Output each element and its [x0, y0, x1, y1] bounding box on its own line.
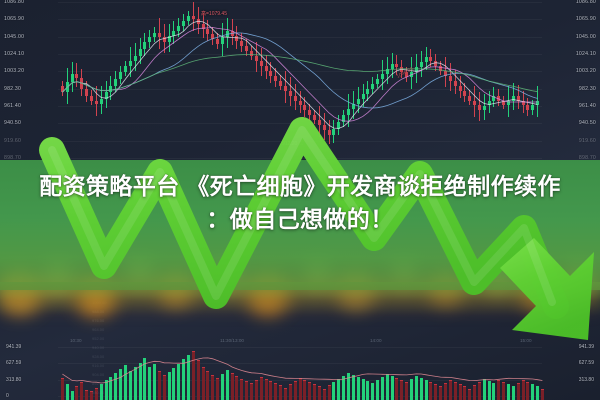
- time-axis-label: 10:30: [70, 338, 82, 343]
- time-axis-label: 14:00: [370, 338, 382, 343]
- time-axis-label: 15:00: [520, 338, 532, 343]
- time-axis-label: 11:30/13:00: [220, 338, 244, 343]
- chart-banner: 1086.801086.801065.901065.901045.001045.…: [0, 0, 600, 400]
- headline-text: 配资策略平台 《死亡细胞》开发商谈拒绝制作续作 ：做自己想做的！: [0, 170, 600, 237]
